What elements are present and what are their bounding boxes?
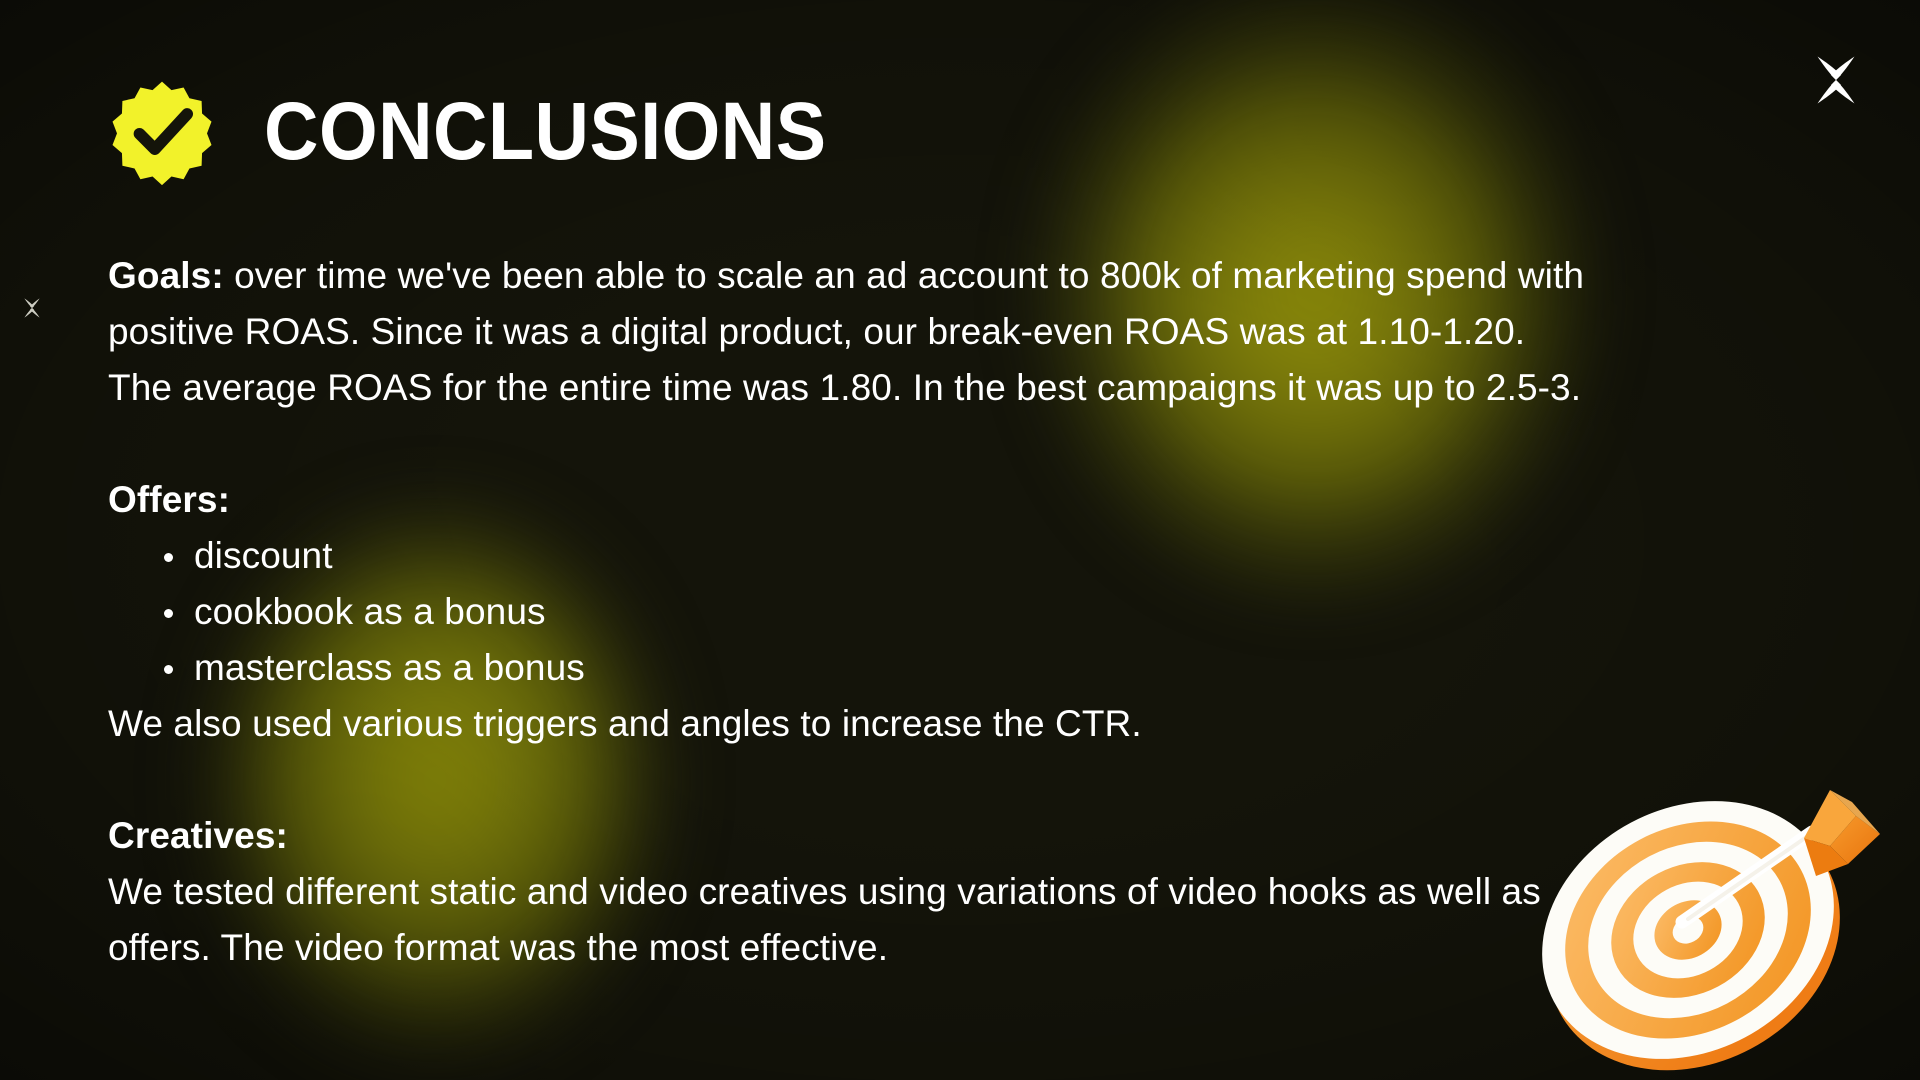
goals-label: Goals: <box>108 255 224 296</box>
offer-item-label: masterclass as a bonus <box>194 647 585 688</box>
close-icon[interactable] <box>1794 38 1878 122</box>
list-item: cookbook as a bonus <box>164 584 1598 640</box>
goals-paragraph: Goals: over time we've been able to scal… <box>108 248 1588 416</box>
slide-content: CONCLUSIONS <box>0 0 1920 1080</box>
slide-header: CONCLUSIONS <box>108 78 875 186</box>
list-item: masterclass as a bonus <box>164 640 1598 696</box>
offers-list: discount cookbook as a bonus masterclass… <box>108 528 1598 696</box>
creatives-label: Creatives: <box>108 808 1598 864</box>
creatives-text: We tested different static and video cre… <box>108 864 1598 976</box>
offer-item-label: discount <box>194 535 333 576</box>
offers-footnote: We also used various triggers and angles… <box>108 696 1598 752</box>
list-item: discount <box>164 528 1598 584</box>
body-copy: Goals: over time we've been able to scal… <box>108 248 1598 976</box>
page-title: CONCLUSIONS <box>264 91 827 173</box>
verified-badge-check-icon <box>108 78 216 186</box>
sparkle-icon <box>12 288 52 328</box>
offer-item-label: cookbook as a bonus <box>194 591 546 632</box>
conclusions-slide: CONCLUSIONS <box>0 0 1920 1080</box>
offers-label: Offers: <box>108 472 1598 528</box>
goals-text: over time we've been able to scale an ad… <box>108 255 1584 408</box>
spacer <box>108 416 1598 472</box>
spacer <box>108 752 1598 808</box>
